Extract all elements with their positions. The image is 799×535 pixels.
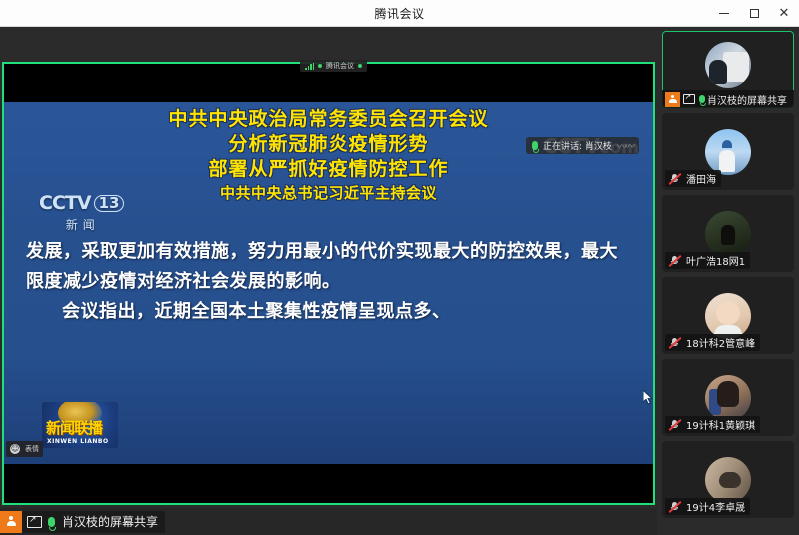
headline-line-3: 部署从严抓好疫情防控工作 (4, 157, 653, 182)
participant-label: 19计科1黄颖琪 (665, 416, 760, 433)
participant-name: 潘田海 (686, 171, 716, 186)
microphone-icon (532, 141, 538, 150)
emoji-float-toolbar[interactable]: ☺ 表情 (6, 441, 43, 457)
letterbox: 正在讲话: 肖汉枝 〰〰 ☺ 表情 CCTV 13 新闻 (4, 64, 653, 503)
network-signal-icon (305, 63, 314, 70)
shared-screen-float-toolbar[interactable]: 腾讯会议 (300, 60, 367, 72)
participant-tile-4[interactable]: 19计科1黄颖琪 (662, 359, 794, 436)
program-name-cn: 新闻联播 (46, 417, 102, 438)
status-dot-icon-2 (358, 64, 362, 68)
news-headline: 中共中央政治局常务委员会召开会议 分析新冠肺炎疫情形势 部署从严抓好疫情防控工作… (4, 107, 653, 204)
emoji-float-label: 表情 (25, 444, 39, 454)
participant-tile-2[interactable]: 叶广浩18网1 (662, 195, 794, 272)
participant-label: 18计科2管意峰 (665, 334, 760, 351)
close-icon: ✕ (779, 7, 790, 20)
headline-line-1: 中共中央政治局常务委员会召开会议 (4, 107, 653, 132)
participant-name: 19计科1黄颖琪 (686, 417, 755, 432)
microphone-muted-icon (668, 419, 681, 431)
participant-name: 叶广浩18网1 (686, 253, 745, 268)
avatar (705, 129, 751, 175)
close-button[interactable]: ✕ (769, 0, 799, 27)
window-controls: ✕ (709, 0, 799, 27)
minimize-button[interactable] (709, 0, 739, 27)
avatar (705, 293, 751, 339)
person-icon (6, 516, 17, 527)
microphone-muted-icon (668, 337, 681, 349)
headline-line-4: 中共中央总书记习近平主持会议 (4, 182, 653, 204)
window-title: 腾讯会议 (0, 5, 799, 22)
news-body-text: 发展，采取更加有效措施，努力用最小的代价实现最大的防控效果，最大限度减少疫情对经… (26, 237, 627, 327)
participant-label: 潘田海 (665, 170, 721, 187)
participant-rail[interactable]: 肖汉枝的屏幕共享 潘田海 叶广浩18网1 18计科2管意峰 (657, 27, 799, 535)
title-bar: 腾讯会议 ✕ (0, 0, 799, 27)
speaking-indicator: 正在讲话: 肖汉枝 〰〰 (526, 137, 639, 154)
float-toolbar-label: 腾讯会议 (326, 61, 354, 71)
active-speaker-name: 肖汉枝的屏幕共享 (62, 513, 158, 530)
active-speaker-chip: 肖汉枝的屏幕共享 (0, 511, 165, 533)
audio-wave-icon: 〰〰 (617, 138, 633, 153)
cctv-channel-sub: 新闻 (41, 216, 124, 233)
participant-tile-3[interactable]: 18计科2管意峰 (662, 277, 794, 354)
microphone-muted-icon (668, 501, 681, 513)
microphone-icon (48, 517, 55, 527)
participant-tile-1[interactable]: 潘田海 (662, 113, 794, 190)
xinwen-lianbo-logo: 新闻联播 XINWEN LIANBO (42, 402, 118, 448)
speaking-indicator-label: 正在讲话: 肖汉枝 (543, 139, 612, 152)
broadcast-video: CCTV 13 新闻 CCTVcom 中共中央政治局常务委员会召开会议 分析新冠… (4, 102, 653, 464)
host-badge-icon (665, 92, 680, 107)
participant-tile-5[interactable]: 19计4李卓晟 (662, 441, 794, 518)
participant-name: 肖汉枝的屏幕共享 (707, 92, 787, 107)
participant-label: 叶广浩18网1 (665, 252, 750, 269)
participant-name: 19计4李卓晟 (686, 499, 745, 514)
news-paragraph-1: 发展，采取更加有效措施，努力用最小的代价实现最大的防控效果，最大限度减少疫情对经… (26, 237, 627, 297)
maximize-button[interactable] (739, 0, 769, 27)
program-name-en: XINWEN LIANBO (47, 438, 109, 445)
screen-share-green-frame: 正在讲话: 肖汉枝 〰〰 ☺ 表情 CCTV 13 新闻 (2, 62, 655, 505)
avatar (705, 42, 751, 88)
microphone-muted-icon (668, 173, 681, 185)
screen-share-icon (683, 94, 695, 104)
avatar (705, 211, 751, 257)
shared-screen-stage[interactable]: 腾讯会议 正在讲话: 肖汉枝 〰〰 ☺ 表情 (0, 27, 657, 508)
participant-name: 18计科2管意峰 (686, 335, 755, 350)
screen-share-icon (27, 516, 42, 528)
news-paragraph-2: 会议指出，近期全国本土聚集性疫情呈现点多、 (26, 297, 627, 327)
avatar (705, 375, 751, 421)
participant-tile-0[interactable]: 肖汉枝的屏幕共享 (662, 31, 794, 108)
emoji-icon: ☺ (10, 444, 20, 454)
participant-label: 19计4李卓晟 (665, 498, 750, 515)
avatar (705, 457, 751, 503)
microphone-muted-icon (668, 255, 681, 267)
maximize-icon (750, 9, 759, 18)
host-badge-icon (0, 511, 22, 533)
tencent-meeting-window: 腾讯会议 ✕ 腾讯会议 正在讲话: 肖汉枝 〰〰 (0, 0, 799, 535)
person-icon (668, 95, 677, 104)
microphone-icon (699, 95, 705, 103)
minimize-icon (719, 13, 729, 14)
participant-label: 肖汉枝的屏幕共享 (662, 90, 794, 108)
status-dot-icon (318, 64, 322, 68)
status-bar: 肖汉枝的屏幕共享 (0, 508, 657, 535)
mouse-cursor-icon (643, 390, 654, 405)
